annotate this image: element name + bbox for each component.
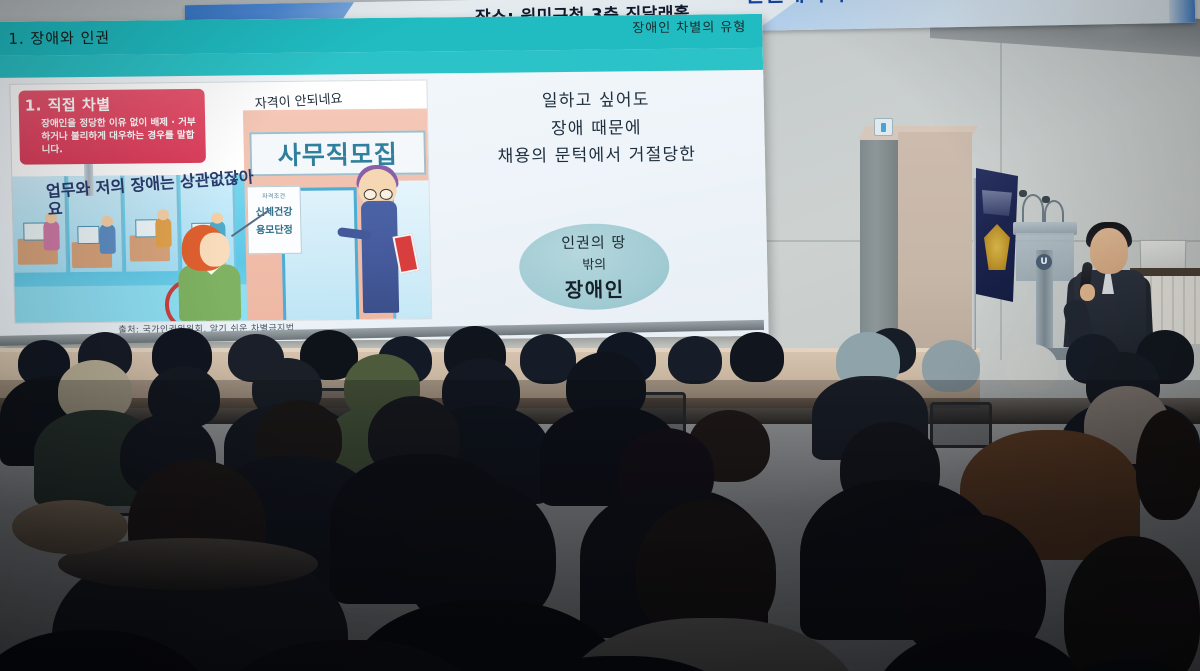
cartoon-recruitment-sign: 사무직모집 [249,130,426,176]
presentation-slide: 1. 장애와 인권 장애인 차별의 유형 [0,14,769,344]
definition-title: 1. 직접 차별 [25,93,199,116]
lecture-hall-photo: 인권대회의 장소: 원미구청 3층 진달래홀 1. 장애와 인권 장애인 차별의… [0,0,1200,671]
audience-head [668,336,722,384]
speaker-head [1090,228,1128,274]
chair [930,402,992,448]
speaker-hand [1080,284,1095,301]
cartoon-manager-body [361,201,399,313]
slide-body-line-2: 장애 때문에 [446,114,747,145]
slide-body-line-1: 일하고 싶어도 [446,86,747,117]
fur-collar [12,500,128,554]
audience [0,300,1200,671]
oval-line-3: 장애인 [565,273,625,303]
podium-logo: U [1036,254,1052,270]
projection-screen: 1. 장애와 인권 장애인 차별의 유형 [0,14,769,344]
slide-body-line-3: 채용의 문턱에서 거절당한 [447,141,748,172]
audience-head [730,332,784,382]
flag-lettering [982,190,1012,216]
audience-head [1006,344,1058,392]
condition-line-2: 용모단정 [256,221,293,236]
cartoon-office-entrance: 사무직모집 자격조건 신체건강 용모단정 [243,108,431,320]
cartoon-definition-box: 1. 직접 차별 장애인을 정당한 이유 없이 배제 · 거부하거나 불리하게 … [18,89,206,165]
slide-header-left: 1. 장애와 인권 [8,27,110,49]
oval-line-1: 인권의 땅 [561,231,626,253]
banner-edge [1169,0,1196,23]
exit-sign-icon [874,118,893,136]
cartoon-illustration: 사무직모집 자격조건 신체건강 용모단정 [9,79,432,323]
condition-title: 자격조건 [262,191,285,200]
audience-head [922,340,980,392]
microphone-icon [1042,196,1050,203]
definition-body: 장애인을 정당한 이유 없이 배제 · 거부하거나 불리하게 대우하는 경우를 … [25,117,200,157]
laptop [1140,240,1187,272]
microphone-icon [1019,190,1027,197]
slide-header-right: 장애인 차별의 유형 [632,16,746,36]
slide-highlight-oval: 인권의 땅 밖의 장애인 [518,223,670,311]
oval-line-2: 밖의 [582,253,606,272]
audience-head [1136,410,1200,520]
slide-body-text: 일하고 싶어도 장애 때문에 채용의 문턱에서 거절당한 [446,86,748,172]
cartoon-applicant-face [199,233,230,267]
